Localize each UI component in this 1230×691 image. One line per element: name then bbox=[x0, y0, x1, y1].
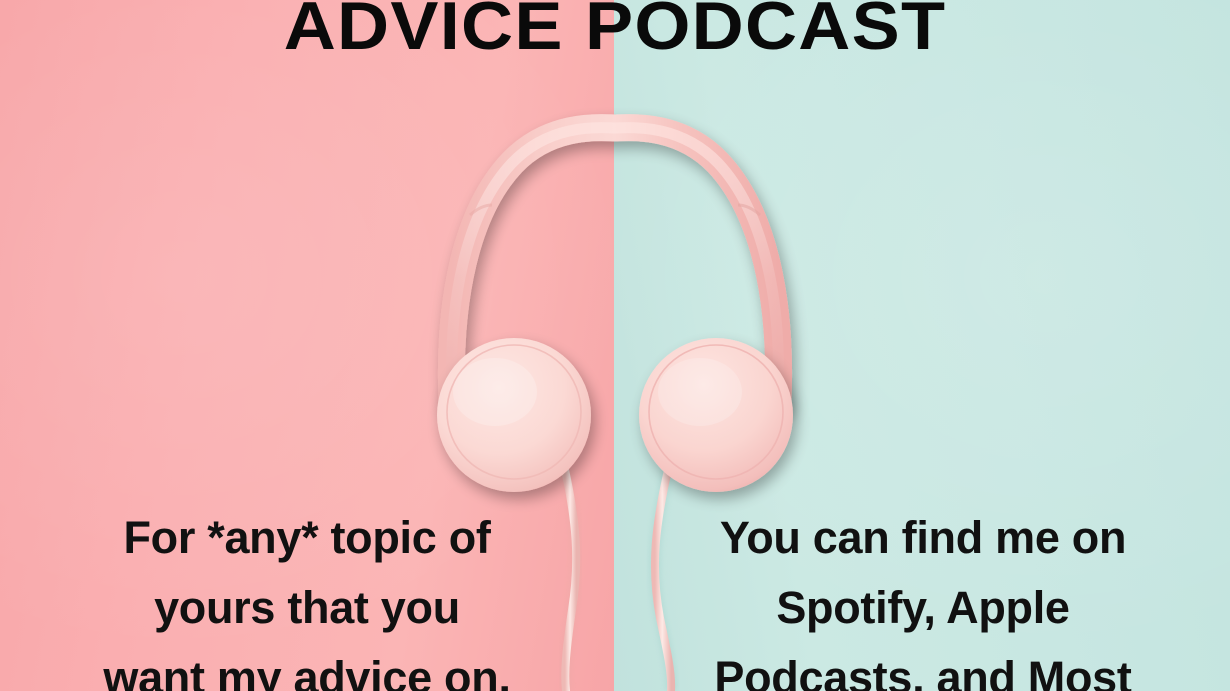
podcast-promo-graphic: ADVICE PODCAST For *any* topic of yours … bbox=[0, 0, 1230, 691]
caption-right-line-3: Podcasts, and Most bbox=[640, 643, 1206, 691]
page-title: ADVICE PODCAST bbox=[0, 0, 1230, 65]
caption-right-line-1: You can find me on bbox=[640, 503, 1206, 573]
caption-right: You can find me on Spotify, Apple Podcas… bbox=[640, 503, 1206, 691]
caption-left-line-1: For *any* topic of bbox=[24, 503, 590, 573]
caption-right-line-2: Spotify, Apple bbox=[640, 573, 1206, 643]
caption-left-line-3: want my advice on, bbox=[24, 643, 590, 691]
caption-left-line-2: yours that you bbox=[24, 573, 590, 643]
caption-left: For *any* topic of yours that you want m… bbox=[24, 503, 590, 691]
